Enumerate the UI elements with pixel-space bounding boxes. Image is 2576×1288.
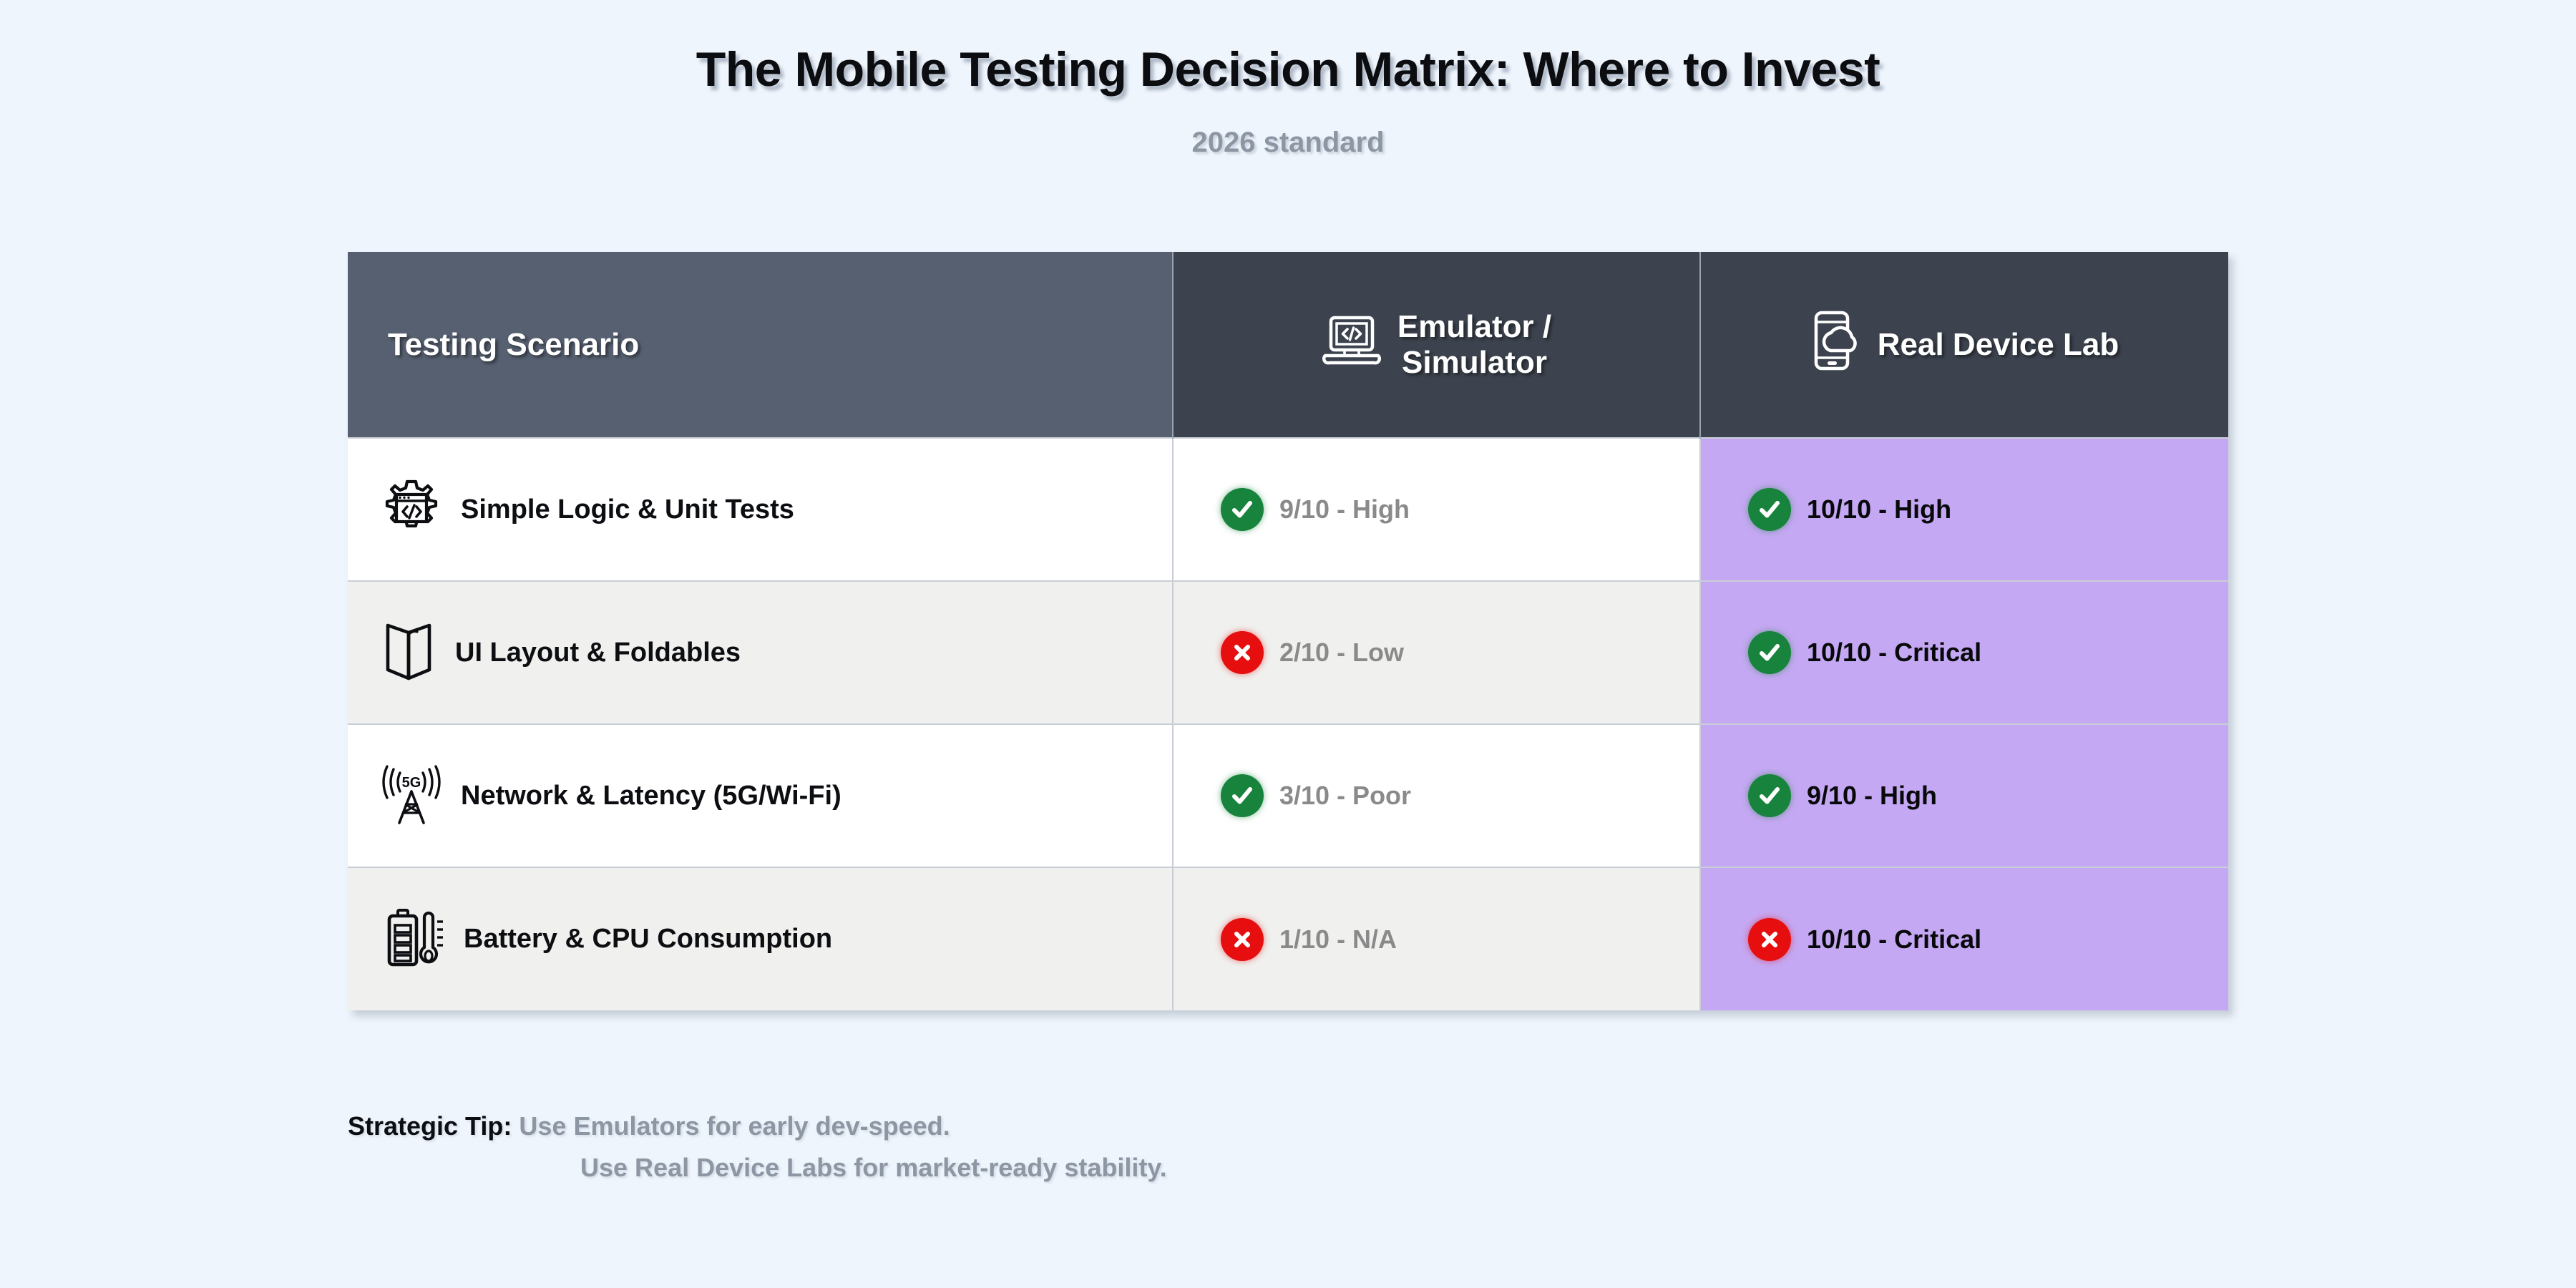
device-verdict-cell: 10/10 - High (1700, 438, 2228, 581)
gear-code-icon (381, 477, 442, 542)
check-icon (1221, 774, 1264, 817)
scenario-label: Battery & CPU Consumption (464, 924, 832, 955)
column-header-device: Real Device Lab (1700, 252, 2228, 438)
strategic-tip-label: Strategic Tip: (348, 1111, 512, 1141)
page-title: The Mobile Testing Decision Matrix: Wher… (0, 44, 2576, 95)
device-verdict-cell: 10/10 - Critical (1700, 581, 2228, 724)
foldable-book-icon (381, 620, 436, 686)
check-icon (1748, 488, 1791, 531)
emulator-verdict-text: 2/10 - Low (1279, 638, 1404, 668)
emulator-verdict-text: 3/10 - Poor (1279, 781, 1411, 811)
column-header-scenario-label: Testing Scenario (388, 327, 639, 362)
scenario-cell: UI Layout & Foldables (348, 581, 1173, 724)
scenario-label: Network & Latency (5G/Wi-Fi) (461, 781, 841, 811)
table-row: 5G Netw (348, 724, 2228, 867)
emulator-verdict-text: 1/10 - N/A (1279, 924, 1397, 955)
scenario-cell: Simple Logic & Unit Tests (348, 438, 1173, 581)
device-verdict-text: 10/10 - High (1807, 494, 1951, 525)
check-icon (1748, 631, 1791, 674)
close-icon (1221, 631, 1264, 674)
strategic-tip: Strategic Tip: Use Emulators for early d… (348, 1106, 1167, 1189)
svg-text:5G: 5G (402, 775, 421, 791)
cell-tower-5g-icon: 5G (381, 763, 442, 829)
table-row: Battery & CPU Consumption 1/10 - N/A (348, 867, 2228, 1010)
device-verdict-text: 9/10 - High (1807, 781, 1937, 811)
emulator-verdict-cell: 3/10 - Poor (1173, 724, 1700, 867)
check-icon (1221, 488, 1264, 531)
device-verdict-cell: 9/10 - High (1700, 724, 2228, 867)
laptop-code-icon (1322, 314, 1382, 375)
close-icon (1221, 918, 1264, 961)
device-verdict-text: 10/10 - Critical (1807, 638, 1981, 668)
strategic-tip-line-1: Strategic Tip: Use Emulators for early d… (348, 1106, 1167, 1147)
page-subtitle: 2026 standard (0, 127, 2576, 159)
column-header-device-label: Real Device Lab (1878, 327, 2119, 362)
scenario-cell: Battery & CPU Consumption (348, 867, 1173, 1010)
phone-cloud-icon (1810, 309, 1862, 380)
check-icon (1748, 774, 1791, 817)
table-header-row: Testing Scenario (348, 252, 2228, 438)
scenario-label: Simple Logic & Unit Tests (461, 494, 794, 525)
header-block: The Mobile Testing Decision Matrix: Wher… (0, 0, 2576, 159)
column-header-scenario: Testing Scenario (348, 252, 1173, 438)
table-row: Simple Logic & Unit Tests 9/10 - High (348, 438, 2228, 581)
column-header-emulator-label: Emulator / Simulator (1397, 309, 1551, 380)
emulator-verdict-cell: 9/10 - High (1173, 438, 1700, 581)
close-icon (1748, 918, 1791, 961)
column-header-emulator: Emulator / Simulator (1173, 252, 1700, 438)
scenario-label: UI Layout & Foldables (455, 638, 741, 668)
emulator-verdict-text: 9/10 - High (1279, 494, 1410, 525)
battery-thermometer-icon (381, 906, 445, 972)
strategic-tip-text-1: Use Emulators for early dev-speed. (519, 1111, 950, 1141)
scenario-cell: 5G Netw (348, 724, 1173, 867)
device-verdict-cell: 10/10 - Critical (1700, 867, 2228, 1010)
emulator-verdict-cell: 1/10 - N/A (1173, 867, 1700, 1010)
decision-matrix: Testing Scenario (348, 252, 2228, 1010)
strategic-tip-text-2: Use Real Device Labs for market-ready st… (580, 1147, 1167, 1189)
emulator-verdict-cell: 2/10 - Low (1173, 581, 1700, 724)
table-row: UI Layout & Foldables 2/10 - Low (348, 581, 2228, 724)
device-verdict-text: 10/10 - Critical (1807, 924, 1981, 955)
